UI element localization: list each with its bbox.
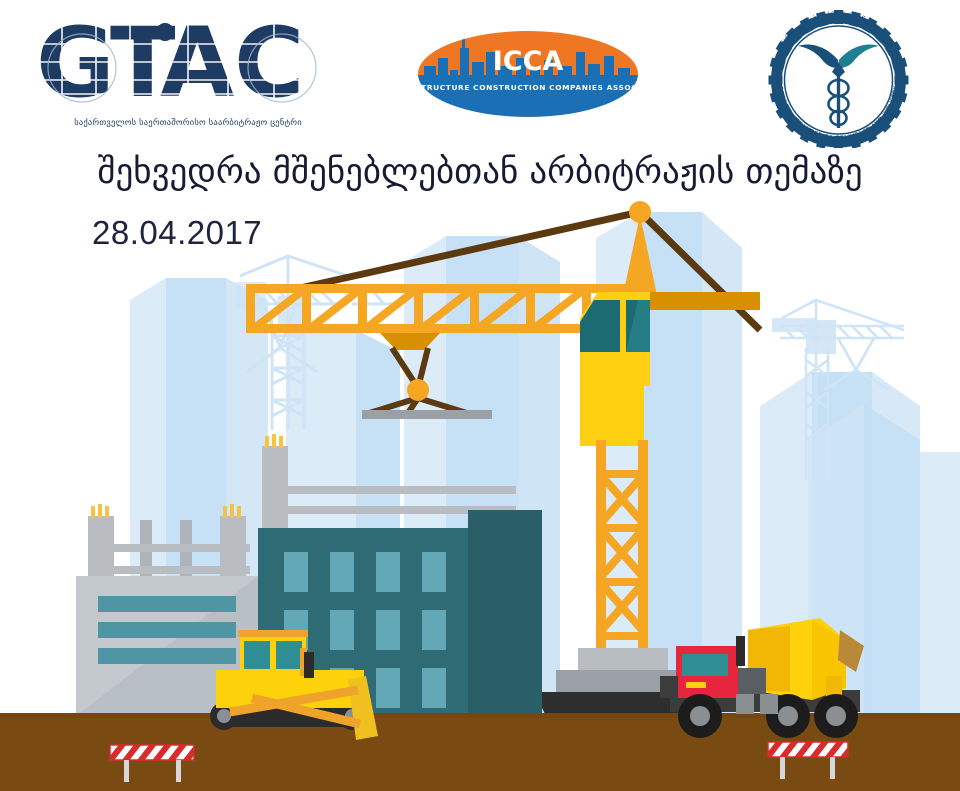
truck-exhaust xyxy=(736,636,745,666)
band-3 xyxy=(98,648,236,664)
crane-cab-body xyxy=(580,386,644,446)
crane-hook-ball xyxy=(407,379,429,401)
event-date: 28.04.2017 xyxy=(92,214,262,252)
giac-logo: G T A C საქართველოს საერ xyxy=(38,18,338,140)
bulldozer-exhaust xyxy=(304,652,314,678)
crane-pivot xyxy=(629,201,651,223)
crane-base-top xyxy=(578,648,668,670)
icca-logo: ICCA INFRASTRUCTURE CONSTRUCTION COMPANI… xyxy=(418,22,638,126)
suspended-slab xyxy=(362,410,492,419)
bulldozer-window-left xyxy=(244,641,270,669)
truck-windshield xyxy=(682,654,728,676)
giac-subtitle: საქართველოს საერთაშორისო საარბიტრაჟო ცენ… xyxy=(38,118,338,128)
band-1 xyxy=(98,596,236,612)
icca-tagline: INFRASTRUCTURE CONSTRUCTION COMPANIES AS… xyxy=(418,83,638,92)
ghost-crane-right-cab xyxy=(806,320,836,354)
logo-header: G T A C საქართველოს საერ xyxy=(0,0,960,150)
title-block: შეხვედრა მშენებლებთან არბიტრაჟის თემაზე … xyxy=(0,152,960,193)
band-2 xyxy=(98,622,236,638)
chamber-logo: საქართველოს სავაჭრო სამრეწველო პალატა GE… xyxy=(752,8,924,148)
page-title: შეხვედრა მშენებლებთან არბიტრაჟის თემაზე xyxy=(0,152,960,193)
giac-wordmark: G T A C xyxy=(38,18,338,114)
rebar-column-center xyxy=(262,446,288,532)
icca-acronym: ICCA xyxy=(493,46,564,77)
poster-canvas: G T A C საქართველოს საერ xyxy=(0,0,960,791)
svg-text:C: C xyxy=(234,18,299,114)
bulldozer-window-right xyxy=(276,641,302,669)
crane-counter-jib xyxy=(650,292,760,310)
